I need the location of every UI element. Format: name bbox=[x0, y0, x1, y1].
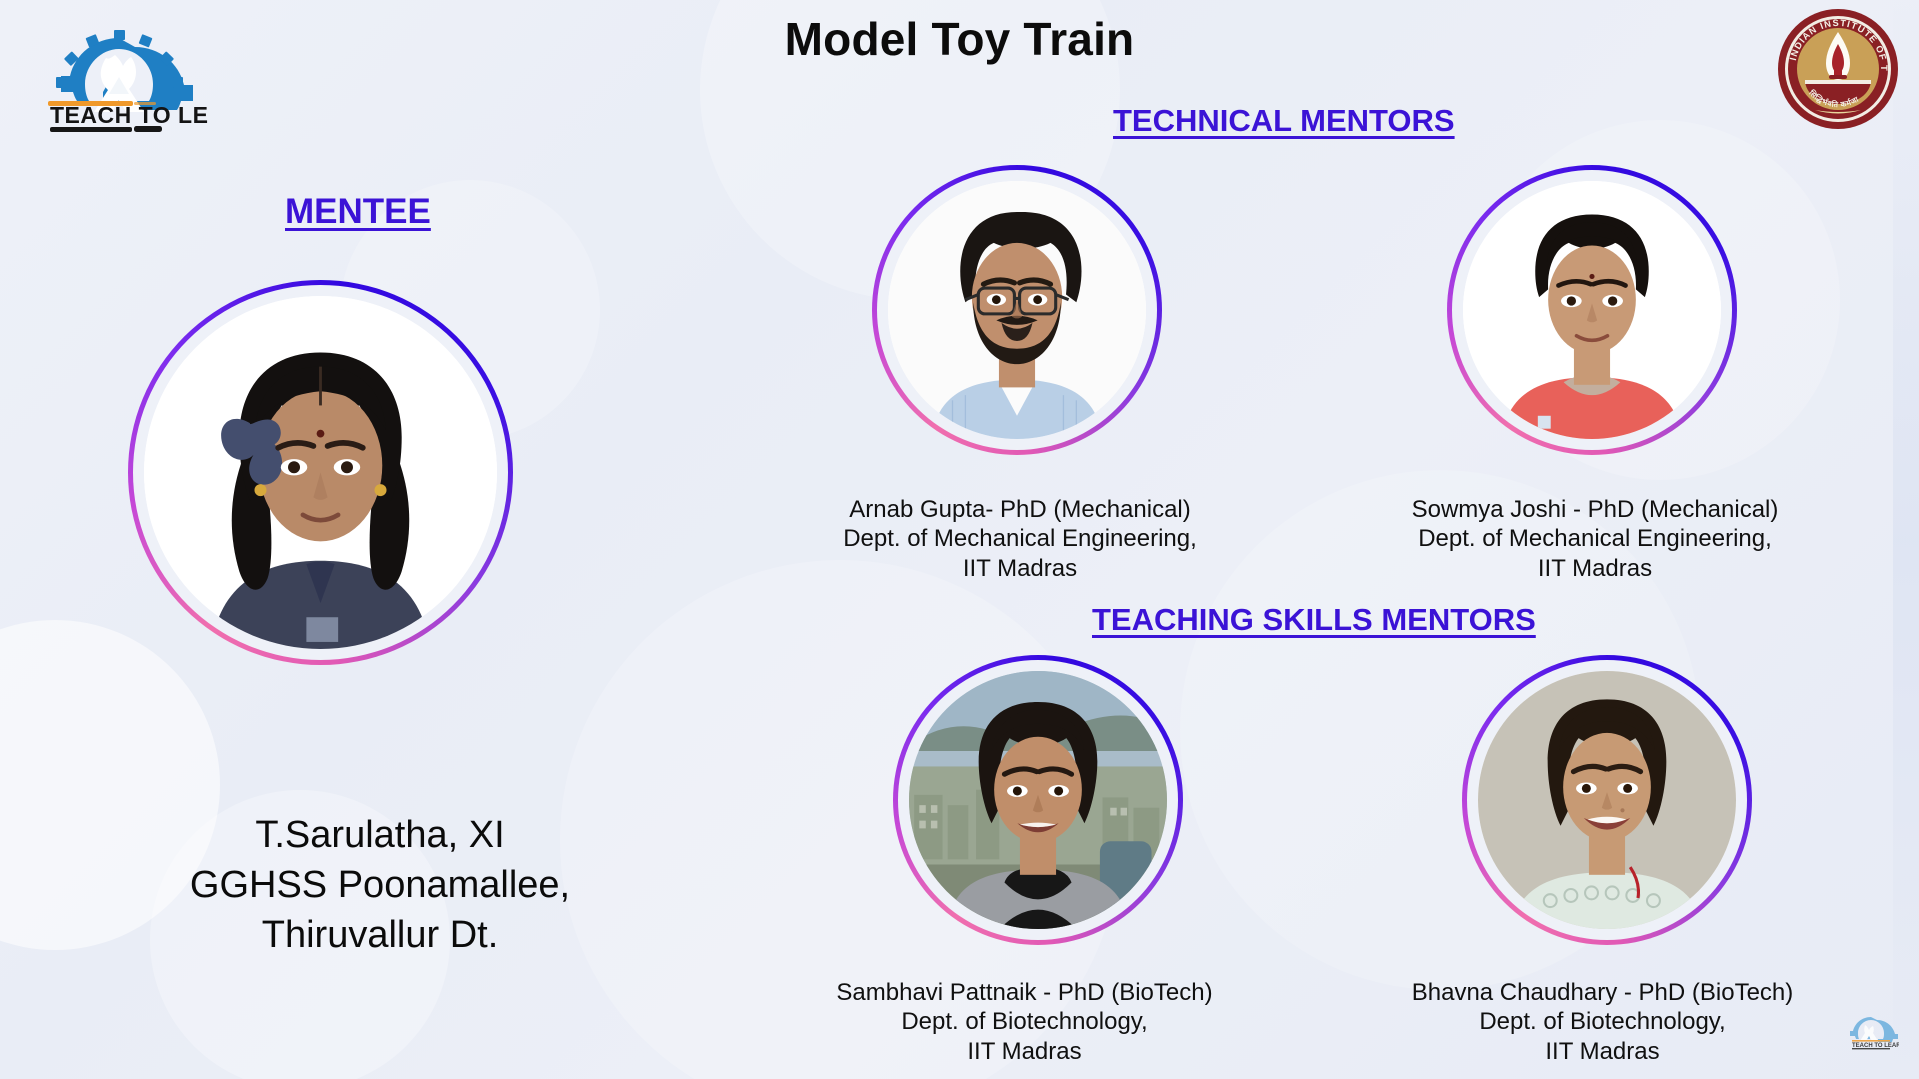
avatar-inner bbox=[898, 660, 1178, 940]
mentor-avatar-arnab-gupta bbox=[872, 165, 1162, 455]
mentee-photo bbox=[144, 296, 497, 649]
mentee-caption: T.Sarulatha, XI GGHSS Poonamallee, Thiru… bbox=[100, 810, 660, 960]
slide-canvas: TEACH TO LEARN bbox=[0, 0, 1919, 1079]
teaching-skills-mentors-section-heading: TEACHING SKILLS MENTORS bbox=[1092, 602, 1536, 638]
mentor-name: Bhavna Chaudhary - PhD (BioTech) bbox=[1340, 978, 1865, 1007]
mentee-district: Thiruvallur Dt. bbox=[100, 910, 660, 960]
mentor-name: Arnab Gupta- PhD (Mechanical) bbox=[760, 495, 1280, 524]
mentor-avatar-bhavna-chaudhary bbox=[1462, 655, 1752, 945]
avatar-inner bbox=[133, 285, 508, 660]
mentor-name: Sambhavi Pattnaik - PhD (BioTech) bbox=[762, 978, 1287, 1007]
technical-mentors-section-heading: TECHNICAL MENTORS bbox=[1113, 103, 1455, 139]
mentee-avatar bbox=[128, 280, 513, 665]
mentor-institute: IIT Madras bbox=[762, 1037, 1287, 1066]
mentor-caption-bhavna-chaudhary: Bhavna Chaudhary - PhD (BioTech) Dept. o… bbox=[1340, 978, 1865, 1066]
mentor-dept: Dept. of Biotechnology, bbox=[762, 1007, 1287, 1036]
mentor-institute: IIT Madras bbox=[760, 554, 1280, 583]
mentor-photo bbox=[909, 671, 1167, 929]
background-edge-stripe bbox=[1893, 0, 1919, 1079]
mentee-name: T.Sarulatha, XI bbox=[100, 810, 660, 860]
mentor-caption-sowmya-joshi: Sowmya Joshi - PhD (Mechanical) Dept. of… bbox=[1335, 495, 1855, 583]
mentor-photo bbox=[1478, 671, 1736, 929]
avatar-inner bbox=[877, 170, 1157, 450]
svg-text:TEACH TO LEARN: TEACH TO LEARN bbox=[50, 102, 208, 128]
mentor-institute: IIT Madras bbox=[1340, 1037, 1865, 1066]
mentor-photo bbox=[888, 181, 1146, 439]
avatar-inner bbox=[1452, 170, 1732, 450]
mentor-institute: IIT Madras bbox=[1335, 554, 1855, 583]
mentor-name: Sowmya Joshi - PhD (Mechanical) bbox=[1335, 495, 1855, 524]
mentor-caption-sambhavi-pattnaik: Sambhavi Pattnaik - PhD (BioTech) Dept. … bbox=[762, 978, 1287, 1066]
mentor-photo bbox=[1463, 181, 1721, 439]
teach-to-learn-watermark: TEACH TO LEARN bbox=[1843, 1013, 1899, 1053]
mentor-avatar-sowmya-joshi bbox=[1447, 165, 1737, 455]
mentor-caption-arnab-gupta: Arnab Gupta- PhD (Mechanical) Dept. of M… bbox=[760, 495, 1280, 583]
mentor-dept: Dept. of Mechanical Engineering, bbox=[760, 524, 1280, 553]
mentor-dept: Dept. of Mechanical Engineering, bbox=[1335, 524, 1855, 553]
mentor-dept: Dept. of Biotechnology, bbox=[1340, 1007, 1865, 1036]
mentee-school: GGHSS Poonamallee, bbox=[100, 860, 660, 910]
avatar-inner bbox=[1467, 660, 1747, 940]
mentor-avatar-sambhavi-pattnaik bbox=[893, 655, 1183, 945]
mentee-section-heading: MENTEE bbox=[285, 192, 431, 232]
page-title: Model Toy Train bbox=[0, 12, 1919, 66]
